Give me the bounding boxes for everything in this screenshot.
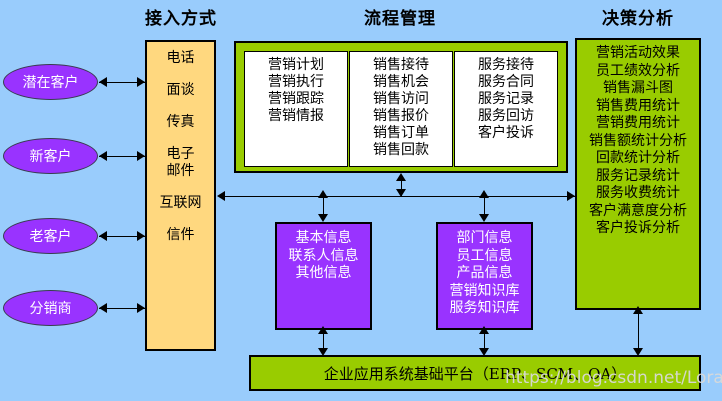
process-item: 销售接待 (350, 57, 452, 74)
access-channel-item: 电话 (167, 50, 195, 67)
arrow-head-down (479, 214, 489, 222)
arrow-head-left (99, 303, 107, 313)
access-channel-item: 面谈 (167, 82, 195, 99)
decision-item: 员工绩效分析 (577, 63, 699, 81)
process-column-sales[interactable]: 销售接待 销售机会 销售访问 销售报价 销售订单 销售回款 (349, 51, 453, 167)
decision-item: 销售漏斗图 (577, 80, 699, 98)
process-management-box[interactable]: 营销计划 营销执行 营销跟踪 营销情报 销售接待 销售机会 销售访问 销售报价 … (234, 41, 568, 173)
access-channel-item: 信件 (167, 227, 195, 244)
decision-item: 服务收费统计 (577, 185, 699, 203)
customer-node-existing[interactable]: 老客户 (3, 218, 98, 254)
arrow-head-right (137, 151, 145, 161)
access-channel-item: 电子邮件 (161, 146, 201, 180)
decision-item: 营销费用统计 (577, 115, 699, 133)
process-item: 营销跟踪 (245, 91, 347, 108)
data-item: 其他信息 (277, 265, 370, 283)
arrow-head-down (396, 189, 406, 197)
data-item: 联系人信息 (277, 248, 370, 266)
data-item: 员工信息 (438, 248, 531, 266)
access-channel-item: 传真 (167, 114, 195, 131)
process-item: 营销情报 (245, 108, 347, 125)
customer-label: 分销商 (30, 298, 72, 318)
process-item: 销售订单 (350, 125, 452, 142)
arrow-head-right (137, 77, 145, 87)
process-item: 销售报价 (350, 108, 452, 125)
arrow-head-up (479, 326, 489, 334)
diagram-canvas: 接入方式 流程管理 决策分析 潜在客户 新客户 老客户 分销商 电话 面谈 传真… (0, 0, 722, 401)
arrow-head-up (633, 306, 643, 314)
arrow-head-up (318, 190, 328, 198)
customer-label: 老客户 (30, 226, 72, 246)
data-item: 服务知识库 (438, 300, 531, 318)
decision-analysis-box[interactable]: 营销活动效果 员工绩效分析 销售漏斗图 销售费用统计 营销费用统计 销售额统计分… (575, 38, 701, 310)
process-item: 服务回访 (455, 108, 557, 125)
internal-data-box[interactable]: 部门信息 员工信息 产品信息 营销知识库 服务知识库 (436, 222, 533, 330)
decision-section-title: 决策分析 (575, 4, 701, 29)
arrow-head-up (318, 326, 328, 334)
arrow-head-left (99, 231, 107, 241)
customer-label: 新客户 (30, 146, 72, 166)
access-channel-item: 互联网 (160, 195, 202, 212)
customer-node-distributor[interactable]: 分销商 (3, 290, 98, 326)
data-item: 营销知识库 (438, 283, 531, 301)
connector-bus-to-internal-data (484, 197, 485, 215)
process-item: 销售机会 (350, 74, 452, 91)
decision-item: 销售额统计分析 (577, 133, 699, 151)
process-item: 服务合同 (455, 74, 557, 91)
process-column-marketing[interactable]: 营销计划 营销执行 营销跟踪 营销情报 (244, 51, 348, 167)
arrow-head-up (396, 173, 406, 181)
process-item: 销售访问 (350, 91, 452, 108)
data-item: 基本信息 (277, 230, 370, 248)
process-item: 营销计划 (245, 57, 347, 74)
arrow-head-left (99, 151, 107, 161)
customer-label: 潜在客户 (23, 72, 79, 92)
arrow-head-up (479, 190, 489, 198)
customer-node-new[interactable]: 新客户 (3, 138, 98, 174)
data-item: 产品信息 (438, 265, 531, 283)
process-item: 服务接待 (455, 57, 557, 74)
access-section-title: 接入方式 (145, 4, 217, 29)
customer-data-box[interactable]: 基本信息 联系人信息 其他信息 (275, 222, 372, 330)
process-item: 销售回款 (350, 142, 452, 159)
customer-node-potential[interactable]: 潜在客户 (3, 64, 98, 100)
decision-item: 客户满意度分析 (577, 203, 699, 221)
arrow-head-left (217, 191, 225, 201)
arrow-head-right (137, 231, 145, 241)
access-channel-box[interactable]: 电话 面谈 传真 电子邮件 互联网 信件 (145, 40, 216, 351)
arrow-head-right (567, 191, 575, 201)
process-section-title: 流程管理 (335, 4, 465, 29)
decision-item: 服务记录统计 (577, 168, 699, 186)
decision-item: 客户投诉分析 (577, 220, 699, 238)
decision-item: 营销活动效果 (577, 45, 699, 63)
decision-item: 回款统计分析 (577, 150, 699, 168)
data-item: 部门信息 (438, 230, 531, 248)
decision-item: 销售费用统计 (577, 98, 699, 116)
arrow-head-right (137, 303, 145, 313)
watermark: https://blog.csdn.net/LoraRae (505, 368, 722, 388)
arrow-head-left (99, 77, 107, 87)
process-item: 营销执行 (245, 74, 347, 91)
process-item: 服务记录 (455, 91, 557, 108)
process-item: 客户投诉 (455, 125, 557, 142)
process-column-service[interactable]: 服务接待 服务合同 服务记录 服务回访 客户投诉 (454, 51, 558, 167)
arrow-head-down (318, 214, 328, 222)
connector-bus-to-customer-data (323, 197, 324, 215)
